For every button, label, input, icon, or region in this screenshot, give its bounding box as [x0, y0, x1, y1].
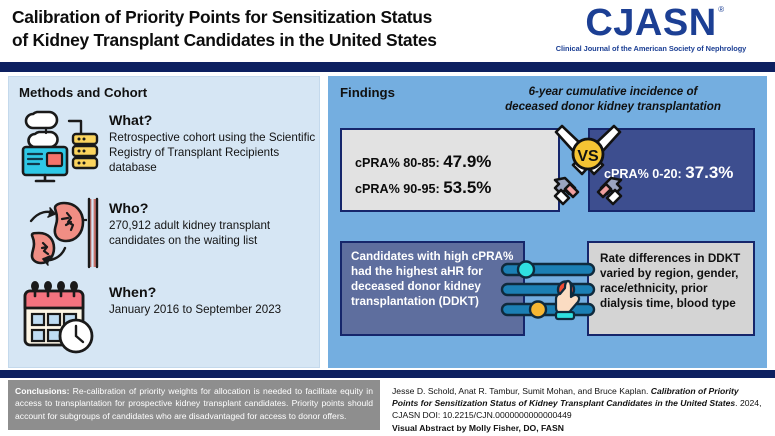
methods-who-question: Who?: [109, 201, 317, 217]
crossed-swords-vs-icon: VS: [544, 118, 632, 214]
methods-when-text: When? January 2016 to September 2023: [109, 279, 317, 317]
conclusions-text: Re-calibration of priority weights for a…: [15, 386, 373, 421]
cpra-80-85-label: cPRA% 80-85:: [355, 156, 440, 170]
registered-trademark-icon: ®: [718, 6, 724, 14]
findings-subheading: 6-year cumulative incidence of deceased …: [468, 84, 758, 114]
methods-and-cohort-panel: Methods and Cohort: [8, 76, 320, 368]
findings-subheading-line-2: deceased donor kidney transplantation: [505, 100, 721, 113]
methods-what-question: What?: [109, 113, 317, 129]
rate-differences-text: Rate differences in DDKT varied by regio…: [600, 252, 752, 311]
cpra-high-box: cPRA% 80-85: 47.9% cPRA% 90-95: 53.5%: [340, 128, 560, 212]
cpra-80-85-value: 47.9%: [443, 152, 491, 171]
kidney-transplant-icon: [17, 195, 101, 273]
title-line-2: of Kidney Transplant Candidates in the U…: [12, 29, 512, 52]
page-title: Calibration of Priority Points for Sensi…: [12, 6, 512, 52]
methods-row-what: What? Retrospective cohort using the Sci…: [17, 107, 317, 185]
visual-abstract-page: Calibration of Priority Points for Sensi…: [0, 0, 775, 436]
findings-panel: Findings 6-year cumulative incidence of …: [328, 76, 767, 368]
cpra-90-95-value: 53.5%: [443, 178, 491, 197]
rate-differences-box: Rate differences in DDKT varied by regio…: [587, 241, 755, 336]
methods-what-body: Retrospective cohort using the Scientifi…: [109, 130, 317, 175]
methods-when-body: January 2016 to September 2023: [109, 302, 317, 317]
cpra-90-95-line: cPRA% 90-95: 53.5%: [355, 178, 491, 198]
methods-who-text: Who? 270,912 adult kidney transplant can…: [109, 195, 317, 248]
methods-what-text: What? Retrospective cohort using the Sci…: [109, 107, 317, 175]
methods-heading: Methods and Cohort: [19, 85, 147, 100]
cjasn-wordmark: CJASN ®: [585, 4, 716, 43]
findings-heading: Findings: [340, 85, 395, 100]
visual-abstract-credit: Visual Abstract by Molly Fisher, DO, FAS…: [392, 422, 764, 434]
cjasn-logo-subtitle: Clinical Journal of the American Society…: [537, 44, 765, 53]
cloud-database-monitor-icon: [17, 107, 101, 185]
cjasn-wordmark-text: CJASN: [585, 2, 716, 44]
sliders-hand-icon: [498, 252, 604, 332]
footer-divider-band: [0, 370, 775, 378]
title-line-1: Calibration of Priority Points for Sensi…: [12, 7, 432, 27]
citation-box: Jesse D. Schold, Anat R. Tambur, Sumit M…: [388, 380, 768, 430]
citation-authors: Jesse D. Schold, Anat R. Tambur, Sumit M…: [392, 386, 651, 396]
conclusions-box: Conclusions: Re-calibration of priority …: [8, 380, 380, 430]
vs-badge-label: VS: [577, 148, 599, 165]
cpra-0-20-value: 37.3%: [685, 163, 733, 182]
methods-who-body: 270,912 adult kidney transplant candidat…: [109, 218, 317, 248]
methods-when-question: When?: [109, 285, 317, 301]
calendar-clock-icon: [17, 279, 101, 357]
header: Calibration of Priority Points for Sensi…: [0, 0, 775, 62]
methods-row-who: Who? 270,912 adult kidney transplant can…: [17, 195, 317, 273]
header-divider-band: [0, 62, 775, 72]
methods-row-when: When? January 2016 to September 2023: [17, 279, 317, 357]
conclusions-label: Conclusions:: [15, 386, 69, 396]
findings-subheading-line-1: 6-year cumulative incidence of: [529, 85, 698, 98]
cjasn-logo: CJASN ® Clinical Journal of the American…: [537, 4, 765, 53]
cpra-90-95-label: cPRA% 90-95:: [355, 182, 440, 196]
cpra-80-85-line: cPRA% 80-85: 47.9%: [355, 152, 491, 172]
